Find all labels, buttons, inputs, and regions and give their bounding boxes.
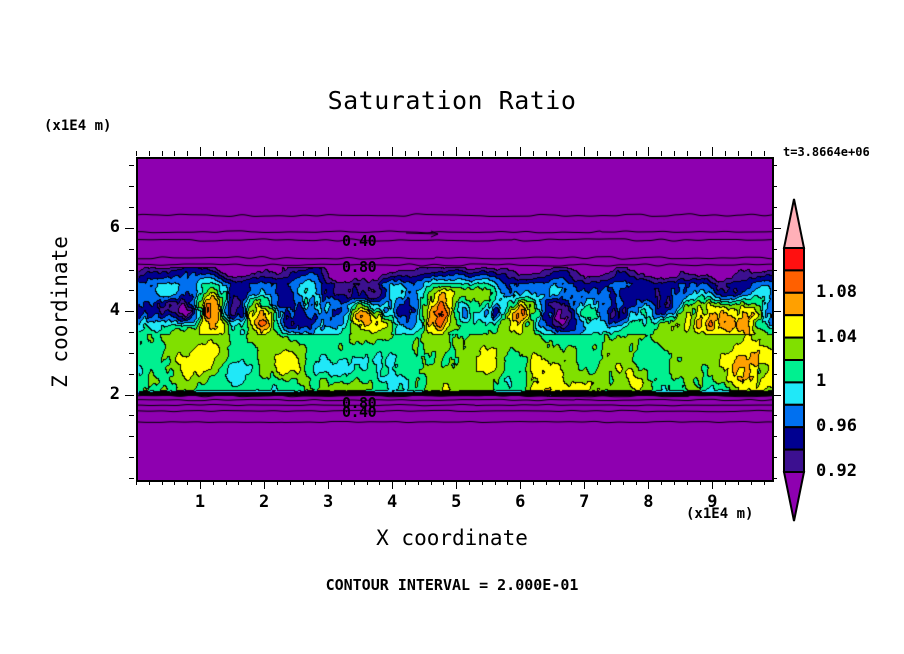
colorbar-tick-label: 0.96 xyxy=(816,416,857,436)
y-minor-tick-right xyxy=(772,270,777,271)
x-major-tick xyxy=(648,480,649,489)
colorbar-band xyxy=(784,427,804,449)
y-minor-tick xyxy=(129,165,134,166)
colorbar-band xyxy=(784,360,804,382)
y-minor-tick xyxy=(129,478,134,479)
x-minor-tick-top xyxy=(174,151,175,156)
x-minor-tick xyxy=(597,480,598,485)
x-minor-tick-top xyxy=(226,151,227,156)
x-major-tick-top xyxy=(456,147,457,156)
y-tick-label: 6 xyxy=(94,217,120,237)
x-minor-tick-top xyxy=(725,151,726,156)
y-minor-tick-right xyxy=(772,290,777,291)
x-minor-tick-top xyxy=(738,151,739,156)
x-minor-tick xyxy=(469,480,470,485)
x-minor-tick xyxy=(431,480,432,485)
x-minor-tick xyxy=(187,480,188,485)
y-tick-label: 2 xyxy=(94,384,120,404)
x-tick-label: 5 xyxy=(441,492,471,512)
x-minor-tick xyxy=(559,480,560,485)
x-minor-tick-top xyxy=(610,151,611,156)
x-major-tick-top xyxy=(200,147,201,156)
x-minor-tick xyxy=(610,480,611,485)
x-minor-tick xyxy=(405,480,406,485)
x-minor-tick-top xyxy=(674,151,675,156)
x-minor-tick-top xyxy=(559,151,560,156)
x-minor-tick-top xyxy=(238,151,239,156)
colorbar[interactable] xyxy=(782,198,806,522)
x-minor-tick xyxy=(636,480,637,485)
x-minor-tick-top xyxy=(431,151,432,156)
contour-plot-area[interactable]: 0.400.800.800.40 xyxy=(136,157,774,482)
y-minor-tick-right xyxy=(772,374,777,375)
x-tick-label: 2 xyxy=(249,492,279,512)
x-minor-tick-top xyxy=(341,151,342,156)
colorbar-tick-label: 0.92 xyxy=(816,461,857,481)
y-minor-tick xyxy=(129,457,134,458)
x-minor-tick-top xyxy=(661,151,662,156)
y-minor-tick xyxy=(129,290,134,291)
y-minor-tick xyxy=(129,207,134,208)
colorbar-band xyxy=(784,315,804,337)
page-title: Saturation Ratio xyxy=(0,86,904,115)
x-tick-label: 4 xyxy=(377,492,407,512)
figure-canvas: Saturation Ratio (x1E4 m) t=3.8664e+06 0… xyxy=(0,0,904,654)
x-minor-tick xyxy=(482,480,483,485)
y-minor-tick xyxy=(129,415,134,416)
x-minor-tick xyxy=(571,480,572,485)
x-minor-tick xyxy=(136,480,137,485)
contour-line-label: 0.80 xyxy=(342,258,376,276)
contour-line-label: 0.40 xyxy=(342,403,376,421)
x-minor-tick-top xyxy=(597,151,598,156)
x-minor-tick xyxy=(149,480,150,485)
x-minor-tick-top xyxy=(533,151,534,156)
y-minor-tick-right xyxy=(772,478,777,479)
colorbar-band xyxy=(784,338,804,360)
x-major-tick-top xyxy=(264,147,265,156)
x-tick-label: 8 xyxy=(633,492,663,512)
x-minor-tick xyxy=(764,480,765,485)
x-minor-tick xyxy=(443,480,444,485)
x-major-tick xyxy=(264,480,265,489)
contour-field xyxy=(138,159,772,480)
x-minor-tick-top xyxy=(571,151,572,156)
x-minor-tick xyxy=(354,480,355,485)
y-minor-tick-right xyxy=(772,436,777,437)
x-minor-tick-top xyxy=(251,151,252,156)
colorbar-tick-label: 1.08 xyxy=(816,282,857,302)
x-minor-tick-top xyxy=(136,151,137,156)
y-minor-tick xyxy=(129,353,134,354)
y-major-tick xyxy=(125,395,134,396)
x-minor-tick-top xyxy=(636,151,637,156)
x-minor-tick xyxy=(623,480,624,485)
colorbar-band xyxy=(784,382,804,404)
x-minor-tick xyxy=(174,480,175,485)
x-minor-tick-top xyxy=(277,151,278,156)
y-minor-tick-right xyxy=(772,207,777,208)
colorbar-band xyxy=(784,293,804,315)
x-major-tick-top xyxy=(584,147,585,156)
x-minor-tick xyxy=(507,480,508,485)
y-major-tick-right xyxy=(772,395,781,396)
x-minor-tick-top xyxy=(700,151,701,156)
y-major-tick xyxy=(125,228,134,229)
x-minor-tick xyxy=(251,480,252,485)
y-minor-tick xyxy=(129,270,134,271)
y-minor-tick-right xyxy=(772,457,777,458)
time-annotation: t=3.8664e+06 xyxy=(783,145,870,159)
x-minor-tick-top xyxy=(482,151,483,156)
y-axis-title: Z coordinate xyxy=(48,222,72,402)
x-major-tick-top xyxy=(392,147,393,156)
x-major-tick-top xyxy=(712,147,713,156)
x-minor-tick-top xyxy=(162,151,163,156)
y-minor-tick-right xyxy=(772,249,777,250)
colorbar-tick-label: 1.04 xyxy=(816,327,857,347)
x-major-tick xyxy=(520,480,521,489)
x-major-tick xyxy=(712,480,713,489)
x-major-tick xyxy=(456,480,457,489)
x-minor-tick xyxy=(238,480,239,485)
y-minor-tick-right xyxy=(772,165,777,166)
y-major-tick-right xyxy=(772,228,781,229)
x-major-tick-top xyxy=(328,147,329,156)
y-minor-tick-right xyxy=(772,353,777,354)
x-minor-tick xyxy=(341,480,342,485)
x-minor-tick-top xyxy=(315,151,316,156)
x-axis-unit-label: (x1E4 m) xyxy=(686,506,753,522)
x-minor-tick-top xyxy=(687,151,688,156)
x-minor-tick-top xyxy=(367,151,368,156)
x-minor-tick-top xyxy=(379,151,380,156)
x-minor-tick-top xyxy=(303,151,304,156)
x-minor-tick xyxy=(546,480,547,485)
x-major-tick-top xyxy=(648,147,649,156)
x-minor-tick-top xyxy=(213,151,214,156)
colorbar-band xyxy=(784,270,804,292)
x-major-tick xyxy=(328,480,329,489)
x-minor-tick xyxy=(674,480,675,485)
x-minor-tick xyxy=(533,480,534,485)
y-minor-tick xyxy=(129,249,134,250)
colorbar-band xyxy=(784,405,804,427)
y-minor-tick xyxy=(129,436,134,437)
y-minor-tick-right xyxy=(772,415,777,416)
y-tick-label: 4 xyxy=(94,300,120,320)
x-minor-tick-top xyxy=(469,151,470,156)
x-minor-tick xyxy=(738,480,739,485)
x-minor-tick-top xyxy=(187,151,188,156)
x-minor-tick-top xyxy=(764,151,765,156)
colorbar-band xyxy=(784,450,804,472)
x-tick-label: 3 xyxy=(313,492,343,512)
colorbar-band xyxy=(784,248,804,270)
x-minor-tick xyxy=(418,480,419,485)
x-minor-tick xyxy=(277,480,278,485)
x-minor-tick-top xyxy=(443,151,444,156)
x-minor-tick-top xyxy=(290,151,291,156)
x-minor-tick xyxy=(367,480,368,485)
y-minor-tick xyxy=(129,186,134,187)
x-minor-tick xyxy=(751,480,752,485)
x-minor-tick xyxy=(315,480,316,485)
x-major-tick-top xyxy=(520,147,521,156)
y-minor-tick-right xyxy=(772,332,777,333)
x-minor-tick xyxy=(495,480,496,485)
x-tick-label: 6 xyxy=(505,492,535,512)
x-minor-tick-top xyxy=(354,151,355,156)
y-minor-tick xyxy=(129,374,134,375)
x-minor-tick xyxy=(162,480,163,485)
colorbar-bottom-arrow xyxy=(784,472,804,521)
x-tick-label: 1 xyxy=(185,492,215,512)
x-minor-tick-top xyxy=(751,151,752,156)
y-major-tick xyxy=(125,311,134,312)
y-major-tick-right xyxy=(772,311,781,312)
x-minor-tick-top xyxy=(507,151,508,156)
y-axis-unit-label: (x1E4 m) xyxy=(44,118,111,134)
x-minor-tick xyxy=(687,480,688,485)
x-minor-tick xyxy=(700,480,701,485)
x-major-tick xyxy=(584,480,585,489)
x-minor-tick-top xyxy=(149,151,150,156)
x-minor-tick xyxy=(213,480,214,485)
x-tick-label: 7 xyxy=(569,492,599,512)
x-minor-tick xyxy=(303,480,304,485)
x-major-tick xyxy=(200,480,201,489)
y-minor-tick xyxy=(129,332,134,333)
x-minor-tick xyxy=(725,480,726,485)
x-minor-tick xyxy=(661,480,662,485)
colorbar-top-arrow xyxy=(784,199,804,248)
colorbar-svg xyxy=(782,198,806,522)
x-minor-tick-top xyxy=(546,151,547,156)
x-minor-tick-top xyxy=(405,151,406,156)
x-axis-title: X coordinate xyxy=(0,526,904,550)
x-minor-tick-top xyxy=(495,151,496,156)
x-minor-tick xyxy=(226,480,227,485)
x-minor-tick-top xyxy=(623,151,624,156)
contour-line-label: 0.40 xyxy=(342,232,376,250)
x-minor-tick-top xyxy=(418,151,419,156)
colorbar-tick-label: 1 xyxy=(816,371,826,391)
x-major-tick xyxy=(392,480,393,489)
x-minor-tick xyxy=(290,480,291,485)
y-minor-tick-right xyxy=(772,186,777,187)
x-minor-tick xyxy=(379,480,380,485)
contour-interval-caption: CONTOUR INTERVAL = 2.000E-01 xyxy=(0,576,904,594)
